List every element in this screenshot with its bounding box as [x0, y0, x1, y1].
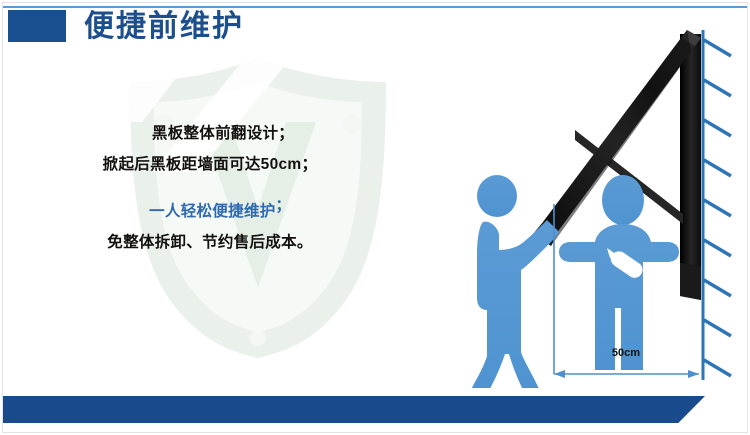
maintenance-illustration: 50cm [455, 8, 750, 388]
body-text-line-3: 一人轻松便捷维护； [80, 190, 340, 227]
body-text-spacer [80, 180, 340, 190]
wall-hatching [703, 30, 731, 380]
footer-accent-bar [3, 396, 705, 423]
body-text-line-2: 掀起后黑板距墙面可达50cm； [80, 149, 340, 180]
slide-canvas: 便捷前维护 [0, 0, 750, 435]
body-text-line-1: 黑板整体前翻设计； [80, 118, 340, 149]
dimension-arrow-right [688, 370, 699, 378]
dimension-label: 50cm [612, 347, 640, 359]
body-text-line-3-main: 一人轻松便捷维护 [149, 203, 275, 220]
wall-mount-frame [680, 34, 701, 300]
body-text-block: 黑板整体前翻设计； 掀起后黑板距墙面可达50cm； 一人轻松便捷维护； 免整体拆… [80, 118, 340, 258]
worker-figure-left [469, 175, 559, 388]
dimension-arrow-left [554, 370, 565, 378]
body-text-line-3-semicolon: ； [276, 197, 291, 214]
page-title: 便捷前维护 [84, 7, 244, 47]
header-accent-block [8, 10, 66, 42]
body-text-line-4: 免整体拆卸、节约售后成本。 [80, 227, 340, 258]
